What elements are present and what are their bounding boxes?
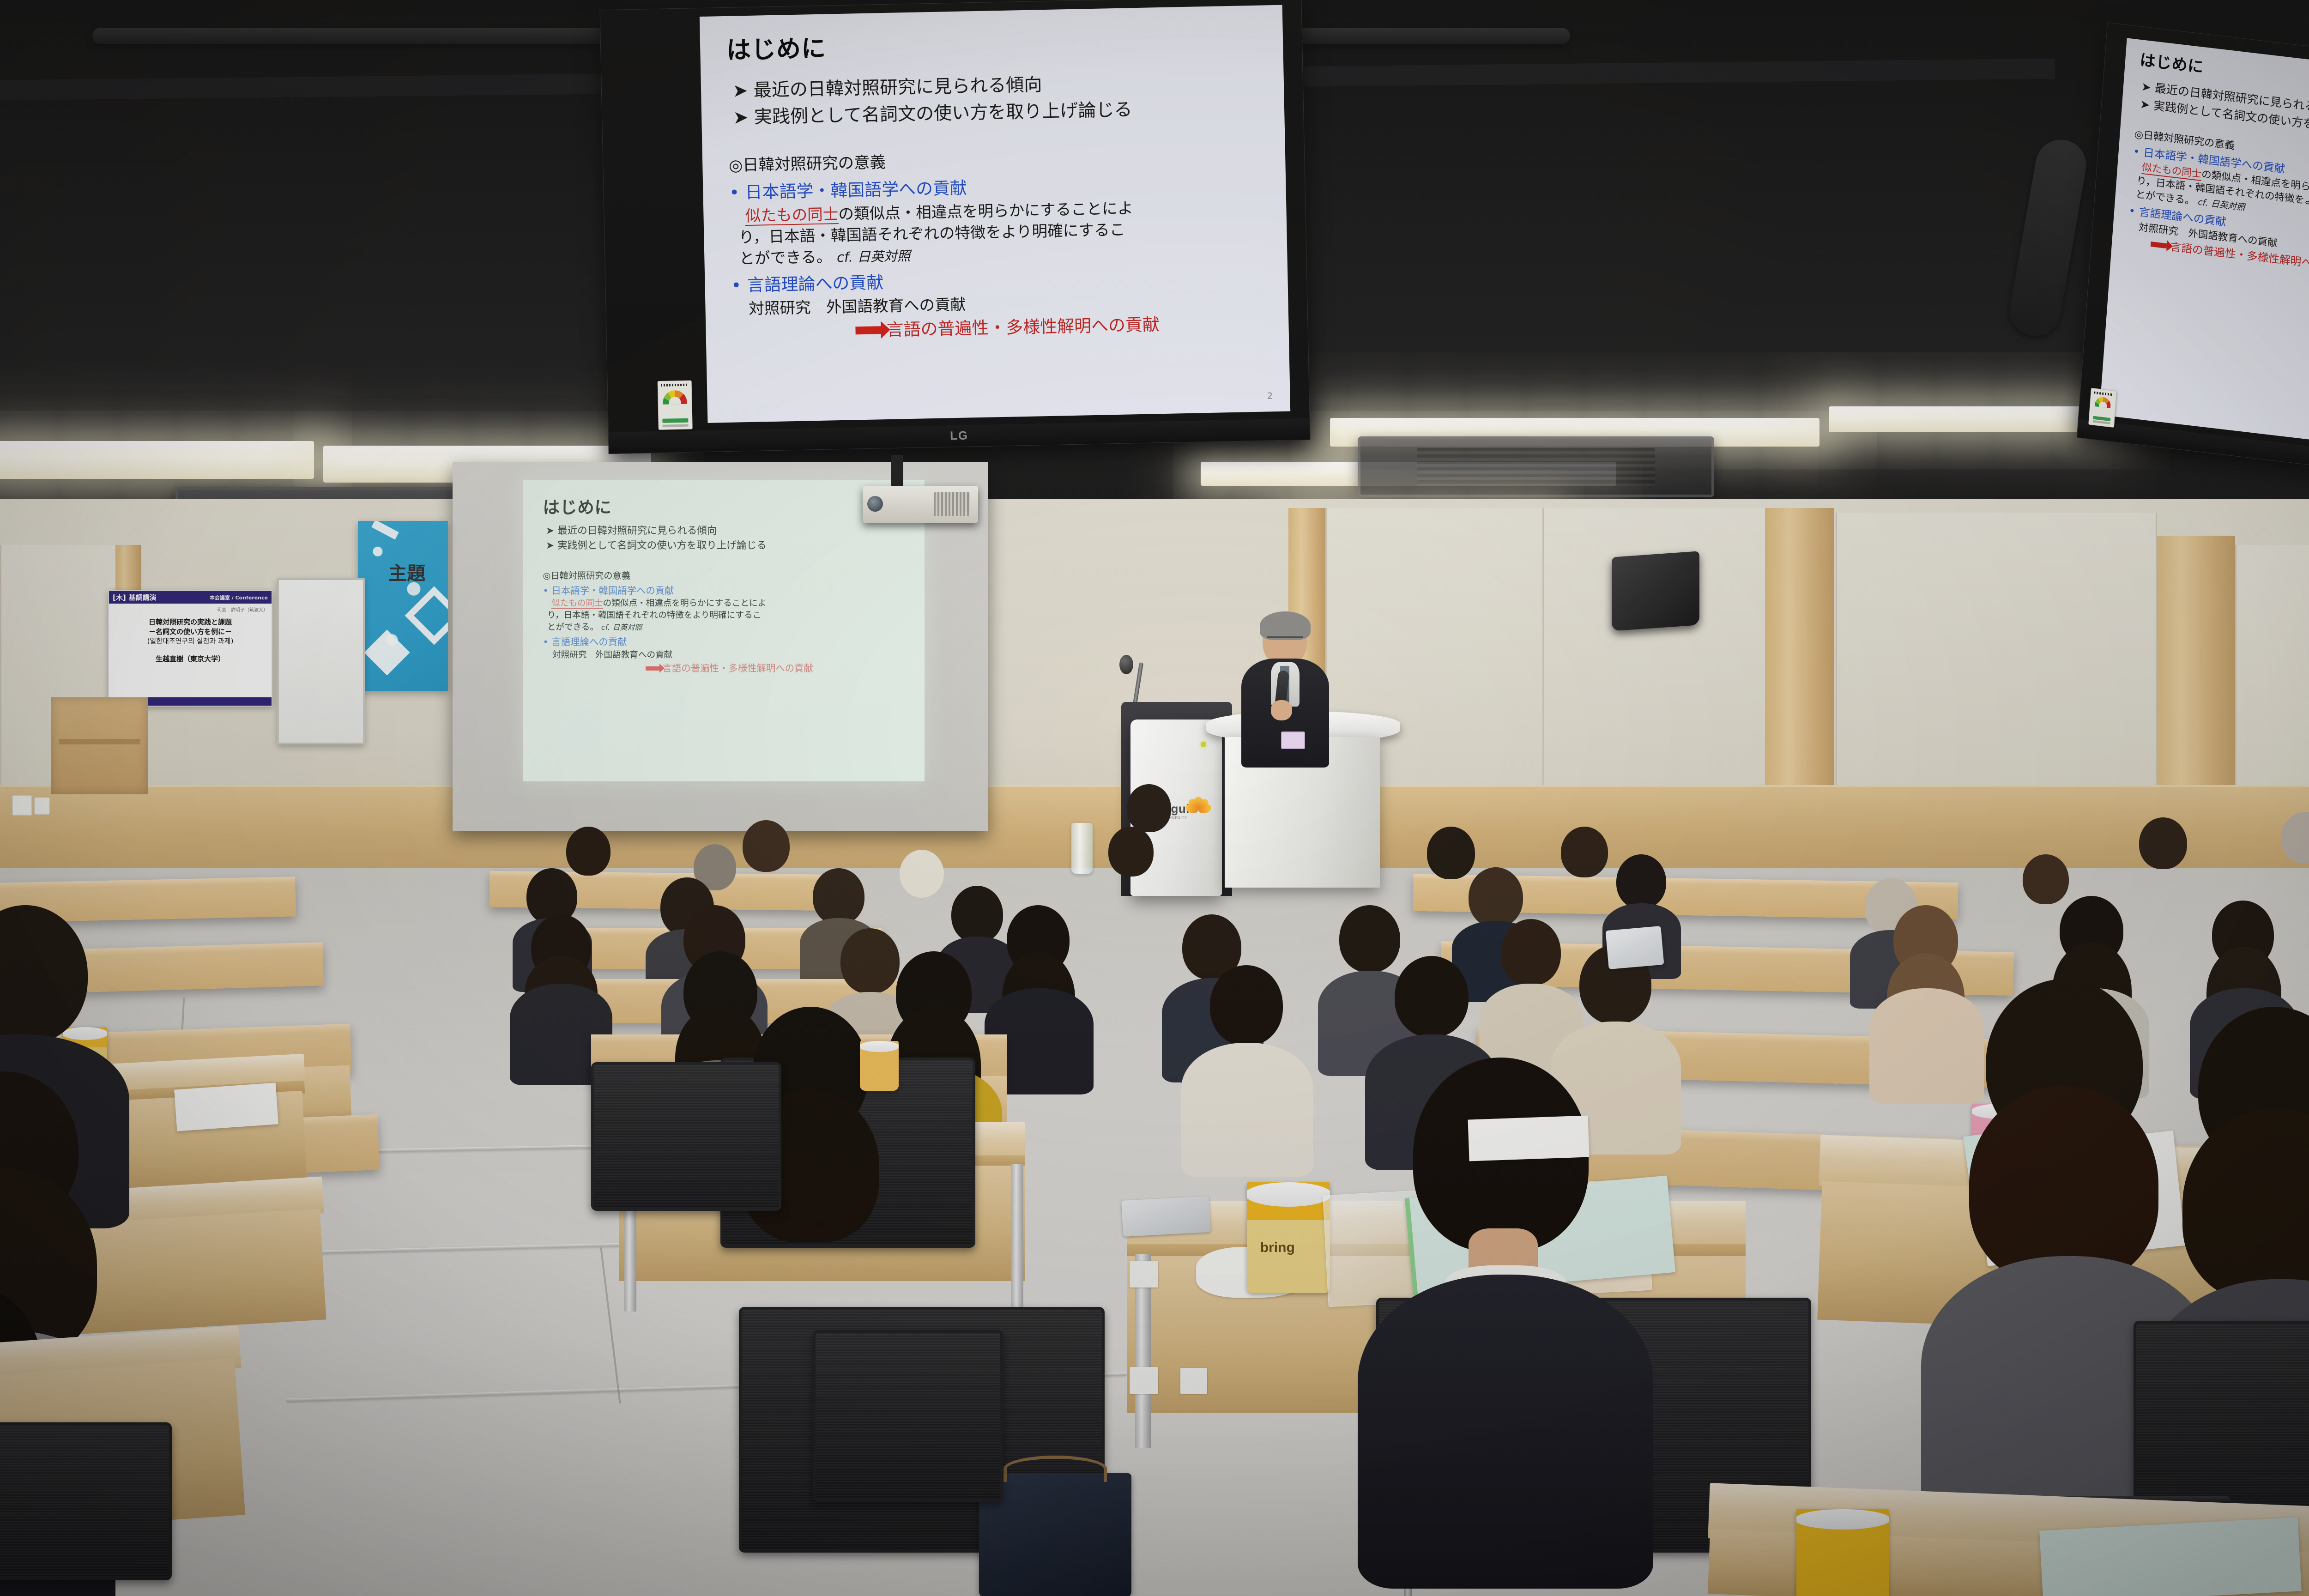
notepad-left <box>174 1082 278 1131</box>
wall-cabinet-left <box>51 697 148 794</box>
speaker-hand <box>1271 700 1292 720</box>
desk-bracket <box>1130 1261 1158 1288</box>
slide-page-number: 2 <box>1267 391 1273 402</box>
poster-category: 基調講演 <box>129 592 210 602</box>
smartphone <box>1121 1196 1211 1237</box>
conclusion-text: 言語の普遍性・多様性解明への貢献 <box>886 314 1160 340</box>
handout-bottom <box>2039 1517 2302 1596</box>
tablet-device <box>1606 926 1664 969</box>
slide-conclusion: 言語の普遍性・多様性解明への貢献 <box>543 662 905 675</box>
wood-column-center <box>1765 508 1834 813</box>
slide-point-1-body-line2: り，日本語・韓国語それぞれの特徴をより明確にするこ <box>547 610 905 622</box>
cup-rim <box>63 1027 107 1040</box>
wall-panel-c <box>1836 513 2157 822</box>
slide-content-projected: はじめに ➤最近の日韓対照研究に見られる傾向 ➤実践例として名詞文の使い方を取り… <box>523 480 925 781</box>
poster-title-line1: 日韓対照研究の実践と課題 <box>112 617 269 627</box>
head <box>1395 956 1469 1037</box>
slide-bullet-2: ➤実践例として名詞文の使い方を取り上げ論じる <box>546 539 905 553</box>
wall-cabinet-shelf <box>59 739 140 744</box>
speaker-hair <box>1260 611 1311 640</box>
sticker-green-bar <box>662 418 688 423</box>
head <box>1108 827 1154 877</box>
torso <box>1181 1043 1313 1177</box>
bullet-arrow-icon: ➤ <box>2141 80 2152 94</box>
head <box>1469 867 1523 927</box>
wall-panel-b <box>1542 508 1767 804</box>
bag-handle <box>1003 1456 1107 1482</box>
head <box>743 820 790 872</box>
head <box>1561 827 1608 877</box>
bullet-dot-icon: • <box>2133 145 2140 158</box>
point-2-text: 言語理論への貢献 <box>551 636 627 647</box>
poster-header-bar: [木] 基調講演 本会議室 / Conference <box>109 591 272 604</box>
energy-rating-sticker <box>658 381 693 430</box>
sticker-gauge-icon <box>663 390 687 405</box>
event-banner: 主題 <box>358 521 448 691</box>
cup-rim <box>1796 1509 1889 1529</box>
torso <box>1869 988 1984 1104</box>
poster-room-note: 司会 許明子（筑波大） <box>109 606 272 613</box>
red-arrow-icon <box>2151 242 2167 248</box>
red-arrow-icon <box>855 326 881 334</box>
slide-point-1-body-line3: とができる。 cf. 日英対照 <box>547 622 905 634</box>
long-hair <box>1969 1085 2158 1284</box>
sticker-text <box>663 424 689 427</box>
ceiling-light-panel-left-1 <box>0 441 314 479</box>
head <box>900 850 944 898</box>
poster-session: 本会議室 / Conference <box>210 594 268 601</box>
lg-logo: LG <box>950 429 969 443</box>
head <box>1127 784 1171 832</box>
main-display-screen: はじめに ➤最近の日韓対照研究に見られる傾向 ➤実践例として名詞文の使い方を取り… <box>700 5 1290 423</box>
wall-switch-plate <box>12 795 32 816</box>
poster-badge: [木] <box>113 592 126 602</box>
point-2-text: 言語理論への貢献 <box>747 272 883 295</box>
lecture-hall-photo: はじめに ➤最近の日韓対照研究に見られる傾向 ➤実践例として名詞文の使い方を取り… <box>0 0 2309 1596</box>
head <box>566 827 610 876</box>
slide-point-2-heading: •言語理論への貢献 <box>543 636 905 648</box>
projected-slide-area: はじめに ➤最近の日韓対照研究に見られる傾向 ➤実践例として名詞文の使い方を取り… <box>523 480 925 781</box>
projector-lens-icon <box>867 496 883 512</box>
cup-front-center: bring <box>1247 1182 1330 1293</box>
bullet-text: 実践例として名詞文の使い方を取り上げ論じる <box>754 100 1132 128</box>
bullet-text: 最近の日韓対照研究に見られる傾向 <box>557 525 717 537</box>
wall-switch-plate-2 <box>34 797 50 815</box>
ac-grille <box>1417 448 1656 486</box>
head <box>2023 854 2069 904</box>
banner-pattern-diamond <box>364 630 410 676</box>
slide-point-1-heading: •日本語学・韓国語学への貢献 <box>543 585 905 597</box>
highlight-red-underline: 似たもの同士 <box>551 598 603 609</box>
poster-title-line2: －名詞文の使い方を例に－ <box>112 627 269 637</box>
ceiling-light-panel-right-3 <box>1829 406 2115 432</box>
notebook-mid-right <box>1468 1115 1590 1161</box>
head <box>1427 827 1475 879</box>
bullet-dot-icon: • <box>731 275 742 295</box>
side-display-screen: はじめに ➤最近の日韓対照研究に見られる傾向 ➤実践例として名詞文の使い方を取り… <box>2099 38 2309 453</box>
point-1-text: 日本語学・韓国語学への貢献 <box>745 178 967 202</box>
chair-backrest <box>591 1062 781 1211</box>
chair-left-mid <box>591 1062 785 1228</box>
cup-rim <box>860 1041 899 1052</box>
bullet-dot-icon: • <box>2128 204 2136 218</box>
main-display-panel: はじめに ➤最近の日韓対照研究に見られる傾向 ➤実践例として名詞文の使い方を取り… <box>599 0 1310 454</box>
body-line3-text: とができる。 <box>547 623 598 632</box>
torso-suit <box>1358 1275 1653 1589</box>
highlight-red-underline: 似たもの同士 <box>745 205 838 226</box>
slide-section-heading: ◎日韓対照研究の意義 <box>543 570 905 581</box>
ceiling-ac-unit-right <box>1358 436 1714 497</box>
wall-speaker-icon <box>1612 551 1699 631</box>
whiteboard <box>277 578 365 744</box>
body-rest: の類似点・相違点を明らかにすることによ <box>838 199 1133 223</box>
head <box>1339 905 1400 973</box>
slide-spacer <box>543 555 905 569</box>
banner-text: 主題 <box>388 558 425 585</box>
bullet-arrow-icon: ➤ <box>546 540 554 551</box>
slide-content-main: はじめに ➤最近の日韓対照研究に見られる傾向 ➤実践例として名詞文の使い方を取り… <box>700 5 1290 423</box>
bullet-arrow-icon: ➤ <box>2140 97 2150 112</box>
ceiling-projector <box>863 486 978 523</box>
bullet-arrow-icon: ➤ <box>733 107 749 128</box>
chair-left-foreground <box>0 1422 175 1596</box>
chair-backrest <box>813 1330 1003 1502</box>
banner-pattern-diamond <box>371 521 399 540</box>
head <box>951 886 1003 943</box>
bullet-dot-icon: • <box>543 636 549 647</box>
cup-bottom-edge <box>1796 1509 1889 1596</box>
speaker-presenter <box>1223 614 1343 767</box>
head <box>840 928 900 994</box>
dongguk-lotus-icon <box>1185 797 1212 822</box>
slide-content-side: はじめに ➤最近の日韓対照研究に見られる傾向 ➤実践例として名詞文の使い方を取り… <box>2099 38 2309 453</box>
desk-bracket <box>1180 1368 1207 1394</box>
banner-pattern-diamond <box>405 586 448 645</box>
podium-indicator-led <box>1201 742 1206 747</box>
slide-point-2-sub: 対照研究 外国語教育への貢献 <box>552 650 905 661</box>
speaker-name-badge <box>1281 731 1305 749</box>
bullet-dot-icon: • <box>729 182 740 202</box>
slide-point-1-body-line1: 似たもの同士の類似点・相違点を明らかにすることによ <box>551 598 904 610</box>
bullet-dot-icon: • <box>543 585 549 596</box>
cup-sleeve <box>1796 1541 1889 1596</box>
slide-bullet-1: ➤最近の日韓対照研究に見られる傾向 <box>546 525 905 538</box>
slide-cf-note: cf. 日英対照 <box>837 248 911 265</box>
cup-sleeve <box>1247 1220 1330 1293</box>
head <box>1210 965 1283 1046</box>
bullet-text: 実践例として名詞文の使い方を取り上げ論じる <box>557 540 767 551</box>
side-display-panel: はじめに ➤最近の日韓対照研究に見られる傾向 ➤実践例として名詞文の使い方を取り… <box>2077 22 2309 476</box>
red-arrow-icon <box>646 666 660 671</box>
desk-leg <box>1011 1164 1023 1312</box>
bullet-arrow-icon: ➤ <box>546 525 554 537</box>
water-bottle <box>1071 823 1093 874</box>
bullet-text: 最近の日韓対照研究に見られる傾向 <box>753 74 1042 101</box>
poster-title-korean: (일한대조연구의 실천과 과제) <box>112 636 269 646</box>
desk-bracket <box>1130 1367 1158 1394</box>
keynote-poster: [木] 基調講演 本会議室 / Conference 司会 許明子（筑波大） 日… <box>108 590 272 707</box>
body-rest: の類似点・相違点を明らかにすることによ <box>603 598 766 608</box>
sticker-barcode <box>661 384 689 387</box>
slide-title: はじめに <box>726 24 1257 67</box>
poster-body: 日韓対照研究の実践と課題 －名詞文の使い方を例に－ (일한대조연구의 실천과 과… <box>109 613 272 669</box>
slide-cf-note: cf. 日英対照 <box>601 623 642 632</box>
body-line3-text: とができる。 <box>739 248 832 268</box>
bullet-arrow-icon: ➤ <box>732 80 748 102</box>
sticker-barcode <box>2094 392 2113 396</box>
projector-vent <box>934 492 970 516</box>
slide-title: はじめに <box>543 496 905 519</box>
energy-rating-sticker <box>2088 388 2117 428</box>
head <box>2139 817 2187 869</box>
microphone-head-icon <box>1119 655 1133 674</box>
sticker-gauge-icon <box>2095 396 2111 408</box>
poster-speaker: 生越直樹（東京大学） <box>112 654 269 664</box>
chair-backrest <box>0 1422 172 1580</box>
head <box>1501 919 1561 985</box>
conclusion-text: 言語の普遍性・多様性解明への貢献 <box>663 663 813 674</box>
point-1-text: 日本語学・韓国語学への貢献 <box>551 585 674 596</box>
cup-logo: bring <box>1260 1240 1295 1256</box>
cup-rim <box>1247 1182 1330 1207</box>
head <box>1616 854 1666 909</box>
cup-mid-row <box>860 1041 899 1091</box>
speaker-glasses-icon <box>1267 636 1303 646</box>
head <box>813 868 864 925</box>
chair-aisle-left <box>813 1330 1007 1533</box>
cup-sleeve <box>860 1058 899 1091</box>
